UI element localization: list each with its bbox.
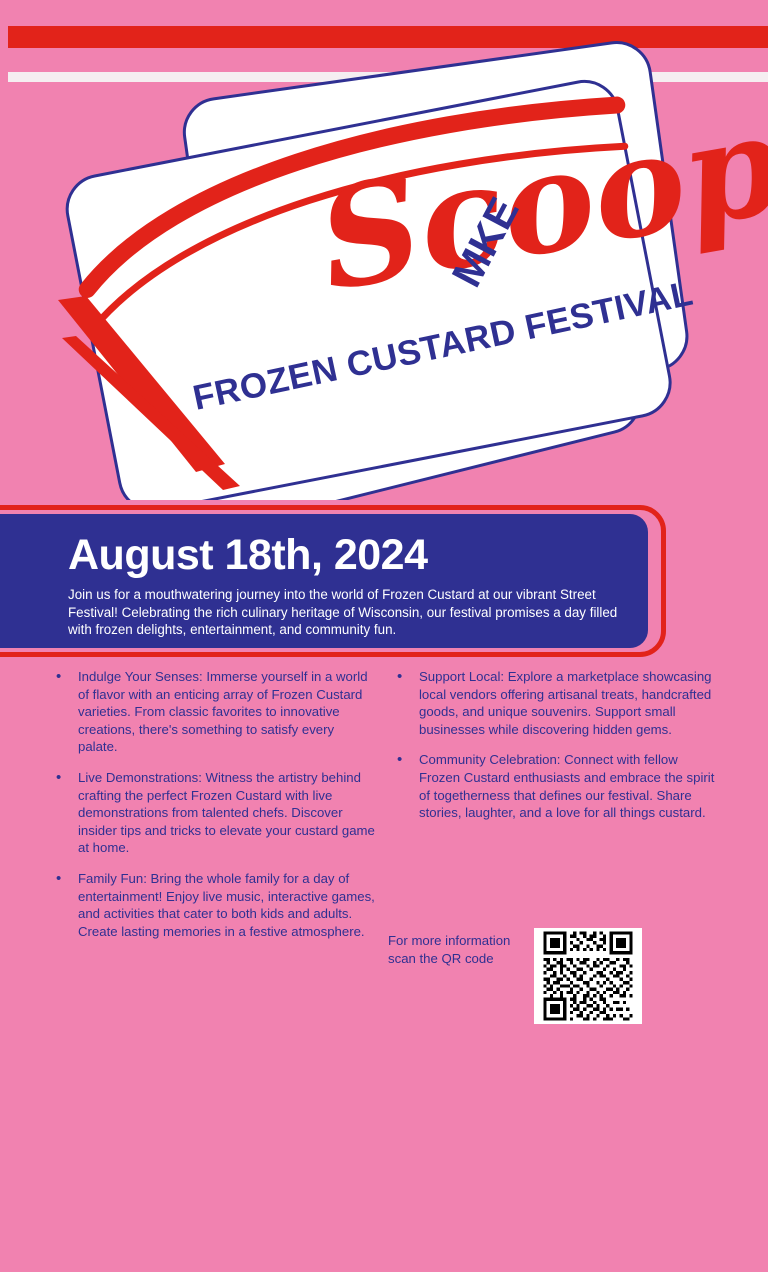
event-description: Join us for a mouthwatering journey into… xyxy=(68,586,620,639)
qr-caption: For more information scan the QR code xyxy=(388,928,538,967)
list-item-text: Family Fun: Bring the whole family for a… xyxy=(78,870,375,940)
list-item: • Support Local: Explore a marketplace s… xyxy=(397,668,716,738)
bullet-marker-icon: • xyxy=(56,769,78,857)
list-item-text: Live Demonstrations: Witness the artistr… xyxy=(78,769,375,857)
qr-code-icon[interactable] xyxy=(534,928,642,1024)
list-item: • Community Celebration: Connect with fe… xyxy=(397,751,716,821)
bullet-marker-icon: • xyxy=(397,751,419,821)
qr-section: For more information scan the QR code xyxy=(388,928,688,1024)
bullet-marker-icon: • xyxy=(56,870,78,940)
date-banner: August 18th, 2024 Join us for a mouthwat… xyxy=(0,514,648,648)
highlights-columns: • Indulge Your Senses: Immerse yourself … xyxy=(56,668,716,953)
event-date: August 18th, 2024 xyxy=(68,530,624,580)
list-item: • Family Fun: Bring the whole family for… xyxy=(56,870,375,940)
bullet-marker-icon: • xyxy=(56,668,78,756)
logo-artwork: Scoop MKE FROZEN CUSTARD FESTIVAL xyxy=(0,0,768,500)
list-item: • Live Demonstrations: Witness the artis… xyxy=(56,769,375,857)
qr-code-svg xyxy=(534,928,642,1024)
highlights-column-left: • Indulge Your Senses: Immerse yourself … xyxy=(56,668,375,953)
list-item: • Indulge Your Senses: Immerse yourself … xyxy=(56,668,375,756)
scoop-mke-logo-svg: Scoop MKE FROZEN CUSTARD FESTIVAL xyxy=(0,0,768,500)
highlights-column-right: • Support Local: Explore a marketplace s… xyxy=(397,668,716,953)
bullet-marker-icon: • xyxy=(397,668,419,738)
list-item-text: Indulge Your Senses: Immerse yourself in… xyxy=(78,668,375,756)
list-item-text: Support Local: Explore a marketplace sho… xyxy=(419,668,716,738)
list-item-text: Community Celebration: Connect with fell… xyxy=(419,751,716,821)
